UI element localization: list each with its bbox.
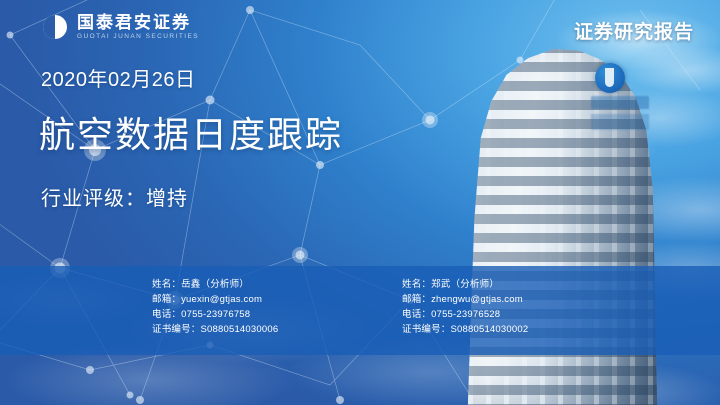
analyst-phone: 电话：0755-23976758 [152, 307, 402, 322]
analyst-name: 姓名：岳鑫（分析师） [152, 277, 402, 292]
analyst-contact-list: 姓名：岳鑫（分析师） 邮箱：yuexin@gtjas.com 电话：0755-2… [0, 277, 720, 337]
analyst-block-1: 姓名：岳鑫（分析师） 邮箱：yuexin@gtjas.com 电话：0755-2… [152, 277, 402, 337]
brand-name-en: GUOTAI JUNAN SECURITIES [77, 34, 199, 41]
report-date: 2020年02月26日 [41, 63, 195, 92]
analyst-license: 证书编号：S0880514030006 [152, 322, 402, 337]
report-type-label: 证券研究报告 [574, 17, 694, 44]
report-cover-page: 国泰君安证券 GUOTAI JUNAN SECURITIES 证券研究报告 20… [0, 0, 720, 405]
industry-rating: 行业评级：增持 [41, 182, 188, 211]
analyst-email[interactable]: 邮箱：yuexin@gtjas.com [152, 292, 402, 307]
analyst-email[interactable]: 邮箱：zhengwu@gtjas.com [402, 292, 662, 307]
analyst-license: 证书编号：S0880514030002 [402, 322, 662, 337]
guotai-junan-logo-icon [42, 14, 68, 40]
cover-content: 国泰君安证券 GUOTAI JUNAN SECURITIES 证券研究报告 20… [0, 0, 720, 405]
page-title: 航空数据日度跟踪 [39, 106, 343, 158]
brand-name-cn: 国泰君安证券 [77, 14, 199, 31]
brand-lockup: 国泰君安证券 GUOTAI JUNAN SECURITIES [42, 14, 199, 41]
analyst-phone: 电话：0755-23976528 [402, 307, 662, 322]
analyst-name: 姓名：郑武（分析师） [402, 277, 662, 292]
brand-text: 国泰君安证券 GUOTAI JUNAN SECURITIES [77, 14, 199, 41]
analyst-block-2: 姓名：郑武（分析师） 邮箱：zhengwu@gtjas.com 电话：0755-… [402, 277, 662, 337]
